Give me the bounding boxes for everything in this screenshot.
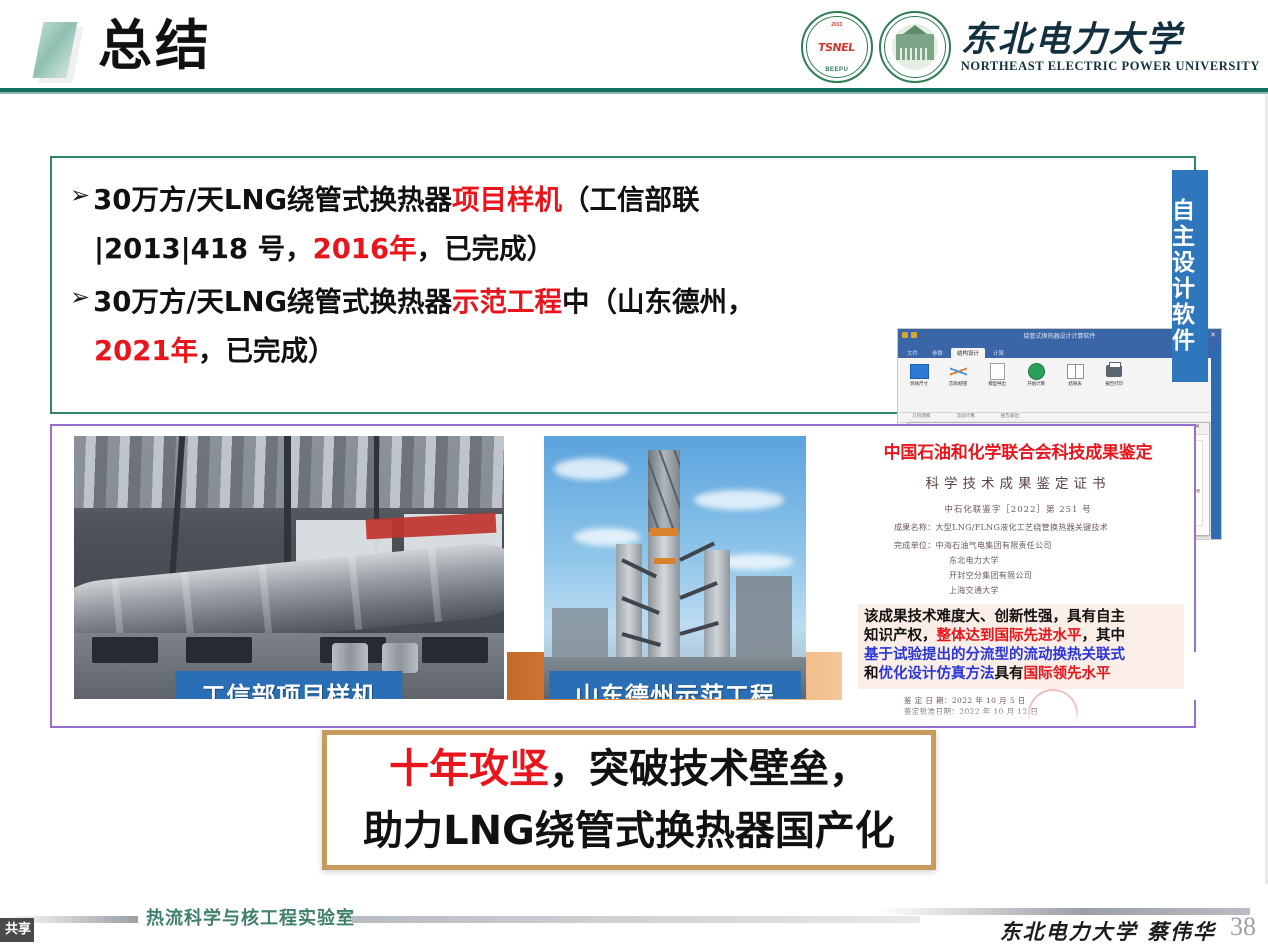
- ribbon-button-1-label: 芯筒/绕管: [943, 381, 973, 387]
- software-label-banner: 自主设计软件: [1172, 170, 1208, 382]
- document-icon: [982, 362, 1012, 380]
- lab-seal-mono: TSNEL: [818, 41, 856, 54]
- lab-seal-year: 2013: [801, 22, 873, 28]
- table-icon: [1060, 362, 1090, 380]
- evidence-panel: 工信部项目样机 山东德州示范工程: [50, 424, 1196, 728]
- slide-footer: 热流科学与核工程实验室 东北电力大学 蔡伟华 38 共享: [0, 894, 1268, 950]
- page-title: 总结: [98, 14, 212, 78]
- green-play-icon: [1021, 362, 1051, 380]
- slide-header: 总结 TSNEL 2013 BEEPU 东北电力大学 NORTHEA: [0, 0, 1268, 94]
- cross-curve-icon: [943, 362, 973, 380]
- ribbon-button-5[interactable]: 报告打印: [1099, 362, 1129, 387]
- ribbon-button-2-label: 模型导出: [982, 381, 1012, 387]
- evaluation-line-4: 和优化设计仿真方法具有国际领先水平: [864, 665, 1178, 684]
- evaluation-line-3: 基于试验提出的分流型的流动换热关联式: [864, 646, 1178, 665]
- share-watermark-badge: 共享: [0, 918, 34, 942]
- ribbon-button-3[interactable]: 开始计算: [1021, 362, 1051, 387]
- conclusion-banner: 十年攻坚，突破技术壁垒， 助力LNG绕管式换热器国产化: [322, 730, 936, 870]
- ribbon-button-4[interactable]: 结果表: [1060, 362, 1090, 387]
- ribbon-button-5-label: 报告打印: [1099, 381, 1129, 387]
- ribbon-tab-3[interactable]: 计算: [987, 348, 1010, 358]
- footer-rule-far-right: [878, 908, 1250, 915]
- ribbon-tab-1[interactable]: 参数: [926, 348, 949, 358]
- software-right-panel: [1211, 346, 1221, 539]
- seal-center: TSNEL: [814, 24, 860, 70]
- software-window-title: 绕管式换热器设计计算软件: [1023, 331, 1095, 340]
- ribbon-group-1: 流动计算: [956, 413, 974, 422]
- ribbon-button-0-label: 筒体尺寸: [904, 381, 934, 387]
- building-icon: [896, 34, 934, 60]
- certificate-fade: [842, 708, 1194, 722]
- header-divider: [0, 88, 1268, 93]
- appraisal-certificate: 中国石油和化学联合会科技成果鉴定 科学技术成果鉴定证书 中石化联鉴字［2022］…: [842, 430, 1194, 722]
- logo-group: TSNEL 2013 BEEPU 东北电力大学 NORTHEAST ELECTR…: [801, 8, 1260, 86]
- seal-center: [892, 24, 938, 70]
- certificate-unit-2: 开封空分集团有限公司: [842, 570, 1194, 581]
- page-number: 38: [1230, 912, 1256, 942]
- certificate-evaluation-box: 该成果技术难度大、创新性强，具有自主 知识产权，整体达到国际先进水平，其中 基于…: [858, 604, 1184, 689]
- bullet-list: ➢ 30万方/天LNG绕管式换热器项目样机（工信部联 |2013|418 号，2…: [70, 172, 860, 386]
- certificate-headline: 中国石油和化学联合会科技成果鉴定: [842, 438, 1194, 463]
- certificate-subtitle: 科学技术成果鉴定证书: [842, 472, 1194, 492]
- bullet-item-1-cont: |2013|418 号，2016年，已完成）: [70, 221, 860, 278]
- photo-2-caption: 山东德州示范工程: [549, 671, 801, 699]
- printer-icon: [1099, 362, 1129, 380]
- ribbon-tab-2[interactable]: 结构设计: [951, 348, 985, 358]
- evaluation-line-1: 该成果技术难度大、创新性强，具有自主: [864, 608, 1178, 627]
- photo-1-caption: 工信部项目样机: [176, 671, 403, 699]
- certificate-number: 中石化联鉴字［2022］第 251 号: [842, 503, 1194, 515]
- ribbon-button-4-label: 结果表: [1060, 381, 1090, 387]
- ribbon-button-2[interactable]: 模型导出: [982, 362, 1012, 387]
- evaluation-line-2: 知识产权，整体达到国际先进水平，其中: [864, 627, 1178, 646]
- ribbon-group-2: 报告输出: [1001, 413, 1019, 422]
- ribbon-group-0: 几何建模: [912, 413, 930, 422]
- quick-access-icons: [902, 332, 917, 338]
- ribbon-tab-0[interactable]: 文件: [901, 348, 924, 358]
- certificate-unit-3: 上海交通大学: [842, 585, 1194, 596]
- ribbon-button-0[interactable]: 筒体尺寸: [904, 362, 934, 387]
- conclusion-line-1: 十年攻坚，突破技术壁垒，: [389, 738, 869, 800]
- footer-author: 东北电力大学 蔡伟华: [1000, 916, 1216, 946]
- ribbon-button-3-label: 开始计算: [1021, 381, 1051, 387]
- lab-seal-logo: TSNEL 2013 BEEPU: [801, 11, 873, 83]
- certificate-unit-1: 东北电力大学: [842, 555, 1194, 566]
- bullet-1-text-line2: |2013|418 号，2016年，已完成）: [94, 221, 554, 278]
- university-name-cn: 东北电力大学: [961, 21, 1260, 59]
- certificate-result-name: 成果名称：大型LNG/FLNG液化工艺绕管换热器关键技术: [842, 522, 1194, 533]
- bullet-2-text-line2: 2021年，已完成）: [94, 323, 336, 380]
- title-accent-icon: [33, 22, 78, 78]
- blue-rect-icon: [904, 362, 934, 380]
- bullet-marker-icon: ➢: [70, 172, 90, 218]
- slide-root: 总结 TSNEL 2013 BEEPU 东北电力大学 NORTHEA: [0, 0, 1268, 950]
- certificate-units-lead: 完成单位：中海石油气电集团有限责任公司: [842, 540, 1194, 551]
- footer-lab-name: 热流科学与核工程实验室: [146, 904, 355, 930]
- university-seal-logo: [879, 11, 951, 83]
- lab-seal-sub: BEEPU: [801, 67, 873, 73]
- university-name-en: NORTHEAST ELECTRIC POWER UNIVERSITY: [961, 59, 1260, 74]
- bullet-marker-icon: ➢: [70, 274, 90, 320]
- conclusion-line-2: 助力LNG绕管式换热器国产化: [363, 800, 895, 862]
- summary-text-box: ➢ 30万方/天LNG绕管式换热器项目样机（工信部联 |2013|418 号，2…: [50, 156, 1196, 414]
- footer-rule-right: [352, 916, 920, 923]
- university-wordmark: 东北电力大学 NORTHEAST ELECTRIC POWER UNIVERSI…: [961, 21, 1260, 74]
- close-icon: ✕: [1210, 331, 1216, 339]
- ribbon-button-1[interactable]: 芯筒/绕管: [943, 362, 973, 387]
- photo-demo-project-tower: 山东德州示范工程: [544, 436, 806, 699]
- bullet-item-2-cont: 2021年，已完成）: [70, 323, 860, 380]
- photo-prototype-factory: 工信部项目样机: [74, 436, 504, 699]
